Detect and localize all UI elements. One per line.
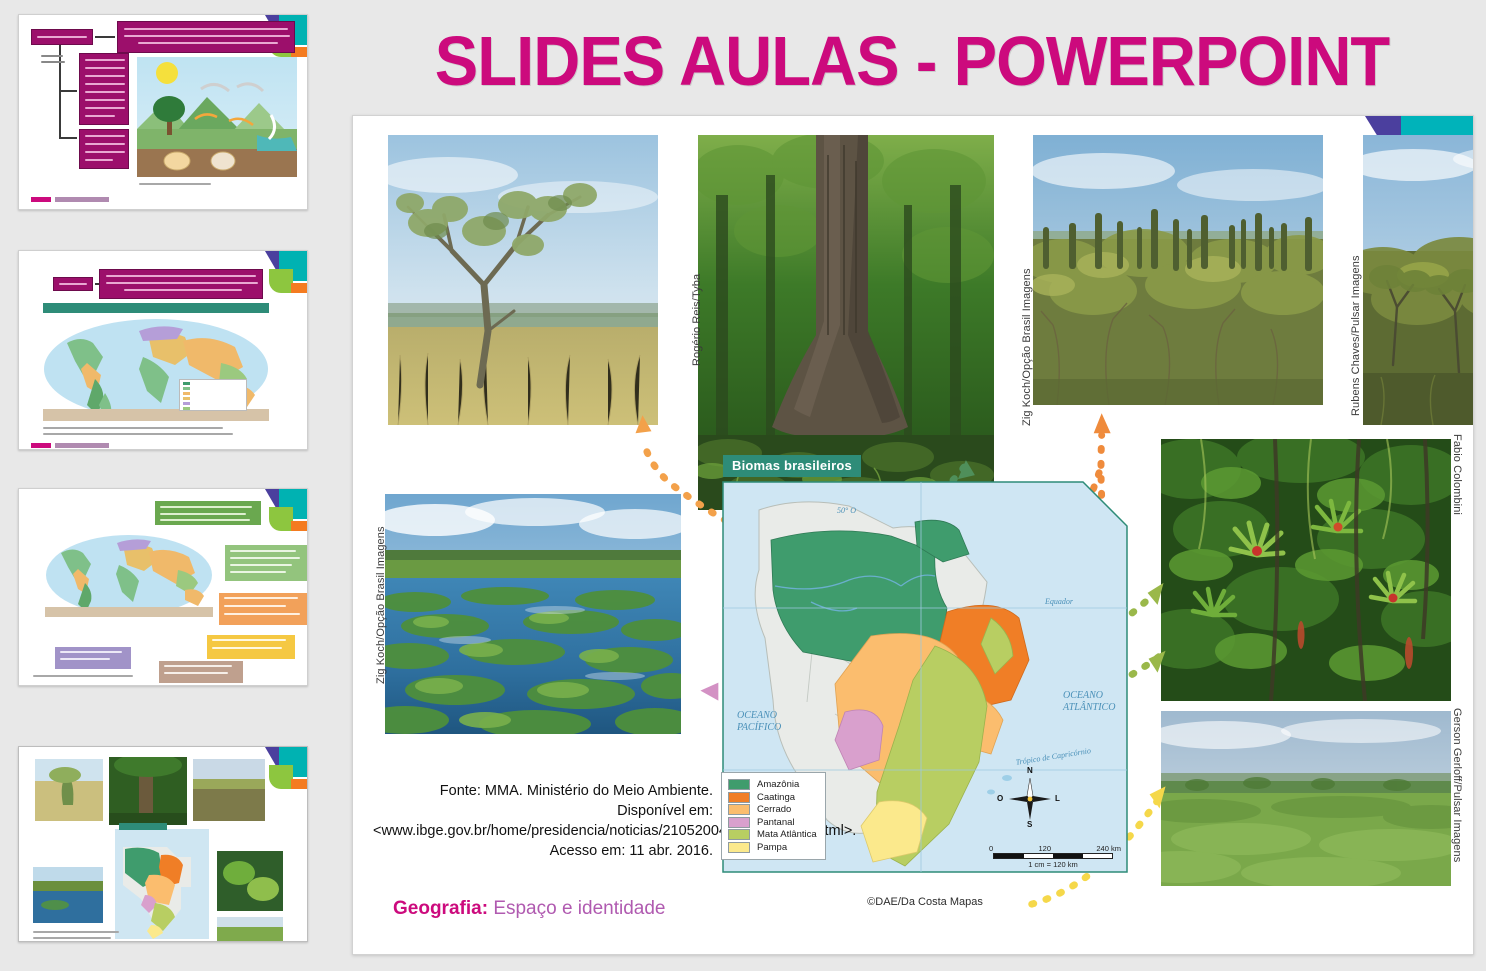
map-label-meridian: 50° O bbox=[837, 506, 856, 515]
photo-campos-sul bbox=[1161, 711, 1451, 886]
source-note: Fonte: MMA. Ministério do Meio Ambiente.… bbox=[373, 781, 713, 861]
page-title: SLIDES AULAS - POWERPOINT bbox=[391, 18, 1433, 104]
thumb-biomas-mundo[interactable] bbox=[18, 488, 308, 686]
thumb-definition-box bbox=[117, 21, 295, 53]
credit-photo-amazonia: Rogério Reis/Tyba bbox=[691, 274, 703, 366]
footer-label: Geografia: bbox=[393, 898, 488, 919]
scale-bar-graphic bbox=[993, 853, 1113, 859]
thumb-callout-purple bbox=[55, 647, 131, 669]
credit-photo-pantanal: Zig Koch/Opção Brasil Imagens bbox=[375, 526, 387, 684]
compass-west: O bbox=[997, 794, 1003, 803]
map-label-equator: Equador bbox=[1045, 597, 1073, 606]
photo-amazonia bbox=[698, 135, 994, 510]
scale-equivalence: 1 cm = 120 km bbox=[993, 860, 1113, 869]
thumb-photo bbox=[217, 851, 283, 911]
thumb-map-title bbox=[119, 823, 167, 830]
thumb-label-box bbox=[53, 277, 93, 291]
legend-swatch bbox=[728, 779, 750, 790]
compass-south: S bbox=[1027, 820, 1032, 829]
thumb-callout-yellow bbox=[207, 635, 295, 659]
thumb-biomas-brasil[interactable] bbox=[18, 746, 308, 942]
thumb-map bbox=[115, 829, 209, 939]
legend-swatch bbox=[728, 842, 750, 853]
compass-east: L bbox=[1055, 794, 1060, 803]
credit-photo-caatinga: Zig Koch/Opção Brasil Imagens bbox=[1021, 268, 1033, 426]
slide-thumbnail-rail bbox=[0, 0, 340, 971]
photo-pantanal bbox=[385, 494, 681, 734]
legend-swatch bbox=[728, 792, 750, 803]
legend-item: Cerrado bbox=[728, 804, 817, 815]
ocean-pacific-text: OCEANO PACÍFICO bbox=[737, 710, 781, 733]
map-credit: ©DAE/Da Costa Mapas bbox=[715, 896, 1135, 908]
compass-north: N bbox=[1027, 766, 1033, 775]
thumb-callout-green2 bbox=[225, 545, 307, 581]
photo-caatinga bbox=[1033, 135, 1323, 405]
map-legend: Amazônia Caatinga Cerrado Pantanal Mata … bbox=[721, 772, 826, 861]
thumb-footer bbox=[31, 197, 51, 202]
decorative-corner-icon bbox=[265, 489, 307, 531]
thumb-definition-box bbox=[99, 269, 263, 299]
scale-tick: 0 bbox=[989, 844, 993, 853]
slide-footer: Geografia: Espaço e identidade bbox=[393, 898, 666, 920]
legend-item: Pampa bbox=[728, 842, 817, 853]
thumb-map-title bbox=[43, 303, 269, 313]
legend-item: Pantanal bbox=[728, 817, 817, 828]
decorative-corner-icon bbox=[265, 747, 307, 789]
legend-label: Pampa bbox=[757, 842, 787, 853]
thumb-photo bbox=[33, 867, 103, 923]
thumb-photo bbox=[35, 759, 103, 821]
legend-label: Mata Atlântica bbox=[757, 829, 817, 840]
legend-swatch bbox=[728, 817, 750, 828]
thumb-callout-brown bbox=[159, 661, 243, 683]
thumb-world-map bbox=[45, 533, 213, 617]
ocean-atlantic-text: OCEANO ATLÂNTICO bbox=[1063, 690, 1115, 713]
thumb-photo bbox=[109, 757, 187, 825]
thumb-note-box bbox=[79, 53, 129, 125]
thumb-label-box bbox=[31, 29, 93, 45]
legend-swatch bbox=[728, 829, 750, 840]
main-slide[interactable]: Rogério Reis/Tyba Zig Koch/Opção Brasil … bbox=[352, 115, 1474, 955]
thumb-bioma[interactable] bbox=[18, 250, 308, 450]
thumb-photo bbox=[217, 917, 283, 942]
legend-label: Pantanal bbox=[757, 817, 795, 828]
legend-label: Cerrado bbox=[757, 804, 791, 815]
map-biomas-brasileiros[interactable]: Biomas brasileiros bbox=[715, 462, 1135, 882]
map-label-ocean-atlantic: OCEANO ATLÂNTICO bbox=[1063, 690, 1135, 714]
map-label-ocean-pacific: OCEANO PACÍFICO bbox=[737, 710, 807, 734]
photo-pampa bbox=[388, 135, 658, 425]
thumb-map-legend bbox=[179, 379, 247, 411]
thumb-photo bbox=[193, 759, 265, 821]
legend-swatch bbox=[728, 804, 750, 815]
credit-photo-mata-atlantica: Fabio Colombini bbox=[1451, 434, 1463, 515]
legend-label: Amazônia bbox=[757, 779, 799, 790]
credit-photo-campos-sul: Gerson Gerloff/Pulsar Imagens bbox=[1451, 708, 1463, 862]
thumb-illustration bbox=[137, 57, 297, 177]
map-title: Biomas brasileiros bbox=[723, 455, 861, 477]
scale-tick: 120 bbox=[1039, 844, 1052, 853]
credit-photo-cerrado: Rubens Chaves/Pulsar Imagens bbox=[1350, 255, 1362, 416]
thumb-ecossistema[interactable] bbox=[18, 14, 308, 210]
thumb-note-box bbox=[79, 129, 129, 169]
thumb-callout-orange bbox=[219, 593, 308, 625]
legend-item: Mata Atlântica bbox=[728, 829, 817, 840]
thumb-callout-green bbox=[155, 501, 261, 525]
decorative-corner-icon bbox=[265, 251, 307, 293]
photo-cerrado bbox=[1363, 135, 1474, 425]
map-scale-bar: 0 120 240 km 1 cm = 120 km bbox=[993, 844, 1121, 869]
legend-label: Caatinga bbox=[757, 792, 795, 803]
photo-mata-atlantica bbox=[1161, 439, 1451, 701]
scale-tick: 240 km bbox=[1096, 844, 1121, 853]
legend-item: Caatinga bbox=[728, 792, 817, 803]
legend-item: Amazônia bbox=[728, 779, 817, 790]
footer-text: Espaço e identidade bbox=[493, 898, 665, 919]
compass-rose: N S L O bbox=[1007, 776, 1053, 822]
